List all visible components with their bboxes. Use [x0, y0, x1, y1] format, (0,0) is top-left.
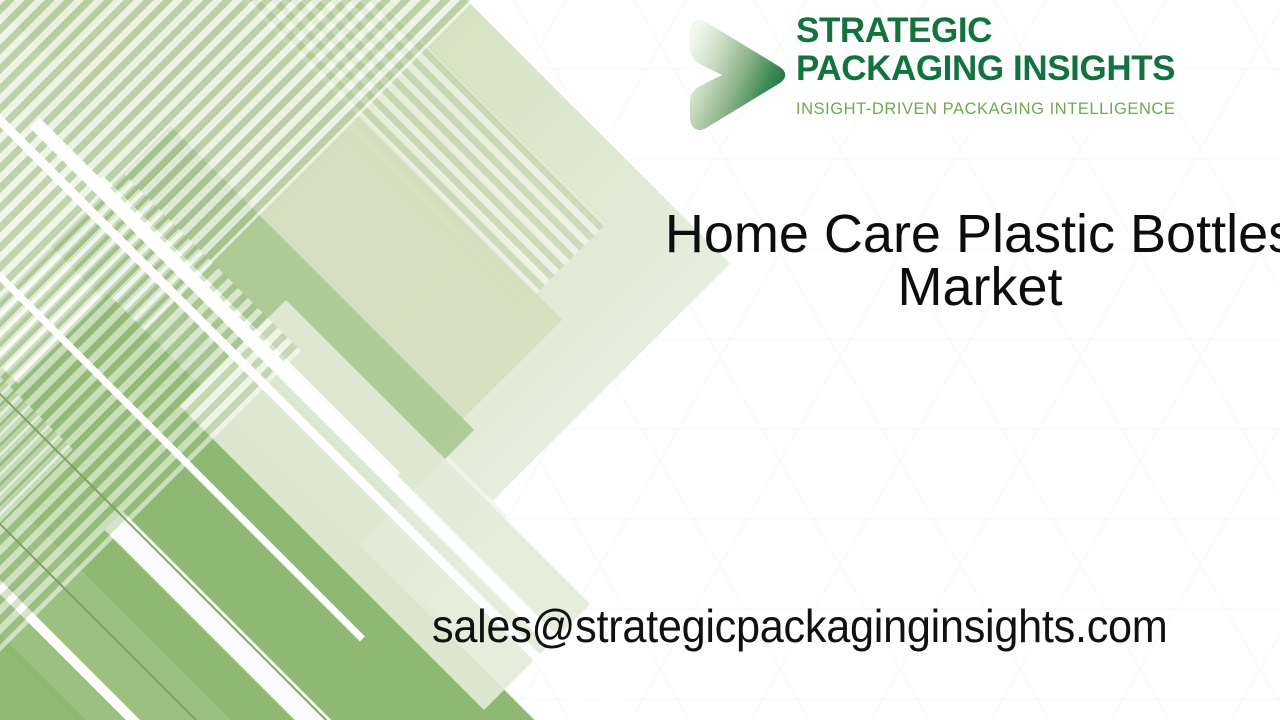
- green-slab-upper: [36, 126, 474, 564]
- company-logo: STRATEGIC PACKAGING INSIGHTS INSIGHT-DRI…: [684, 12, 1189, 134]
- striped-band-upper: [25, 0, 605, 310]
- diagonal-wash-band-c: [0, 0, 508, 693]
- striped-band-lower: [0, 174, 301, 720]
- logo-tagline: INSIGHT-DRIVEN PACKAGING INTELLIGENCE: [796, 100, 1189, 119]
- white-hairline-1: [0, 0, 365, 641]
- pale-slab-mid: [0, 165, 337, 685]
- striped-band-main: [0, 0, 651, 431]
- green-hairline-3: [0, 279, 947, 720]
- green-slab-right: [0, 294, 688, 720]
- logo-line-2: PACKAGING INSIGHTS: [796, 50, 1189, 88]
- logo-line-1: STRATEGIC: [796, 12, 1189, 50]
- striped-band-corner: [0, 331, 74, 720]
- diagonal-wash-band-b: [0, 0, 438, 720]
- green-slab-left: [0, 321, 324, 720]
- slide-canvas: STRATEGIC PACKAGING INSIGHTS INSIGHT-DRI…: [0, 0, 1280, 720]
- white-gap-upper: [92, 176, 400, 484]
- white-gap-left: [0, 435, 378, 720]
- chevron-arrow-mark-icon: [684, 15, 788, 135]
- logo-wordmark: STRATEGIC PACKAGING INSIGHTS INSIGHT-DRI…: [796, 12, 1189, 119]
- pale-slab-upper: [18, 0, 562, 482]
- green-hairline-1: [0, 39, 332, 720]
- green-slab-bottom: [0, 604, 326, 720]
- contact-email[interactable]: sales@strategicpackaginginsights.com: [432, 600, 1168, 652]
- page-title: Home Care Plastic Bottles Market: [630, 208, 1280, 314]
- green-slab-center: [0, 368, 512, 720]
